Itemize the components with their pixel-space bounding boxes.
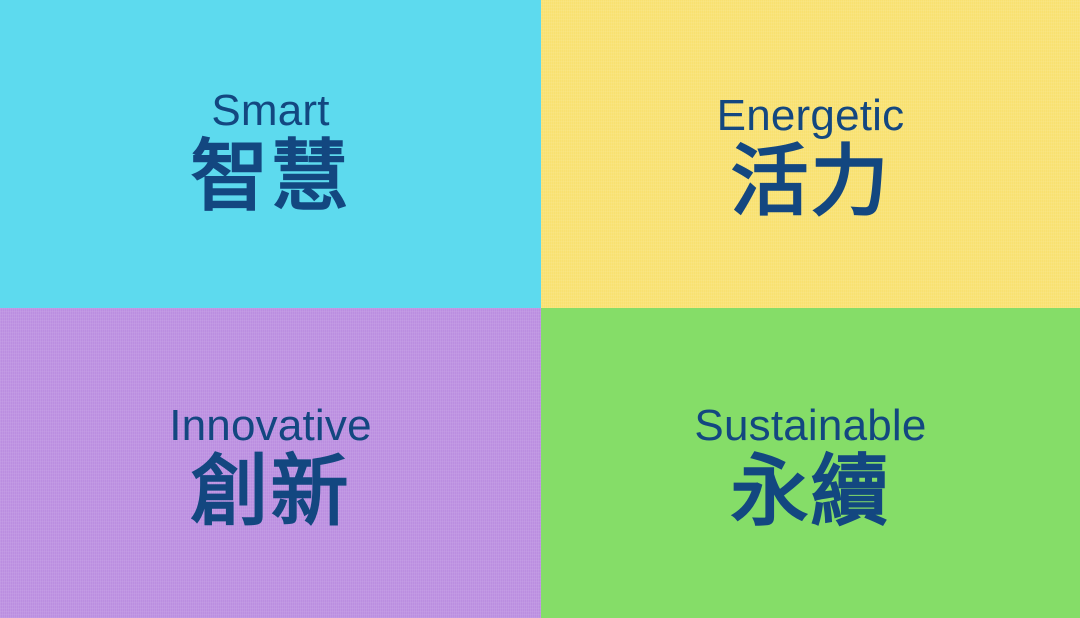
- label-block-sustainable: Sustainable 永續: [541, 403, 1080, 537]
- label-en-innovative: Innovative: [0, 403, 541, 449]
- quadrant-energetic[interactable]: Energetic 活力: [541, 0, 1080, 308]
- label-zh-innovative: 創新: [0, 449, 541, 536]
- label-en-smart: Smart: [0, 88, 541, 134]
- label-block-innovative: Innovative 創新: [0, 403, 541, 537]
- brand-values-canvas: Smart 智慧 Energetic 活力 Innovative 創新 Sust…: [0, 0, 1080, 618]
- label-zh-sustainable: 永續: [541, 449, 1080, 536]
- quadrant-sustainable[interactable]: Sustainable 永續: [541, 308, 1080, 618]
- label-zh-energetic: 活力: [541, 139, 1080, 226]
- label-en-sustainable: Sustainable: [541, 403, 1080, 449]
- label-en-energetic: Energetic: [541, 93, 1080, 139]
- label-block-energetic: Energetic 活力: [541, 93, 1080, 227]
- quadrant-smart[interactable]: Smart 智慧: [0, 0, 541, 308]
- quadrant-innovative[interactable]: Innovative 創新: [0, 308, 541, 618]
- label-zh-smart: 智慧: [0, 134, 541, 221]
- label-block-smart: Smart 智慧: [0, 88, 541, 222]
